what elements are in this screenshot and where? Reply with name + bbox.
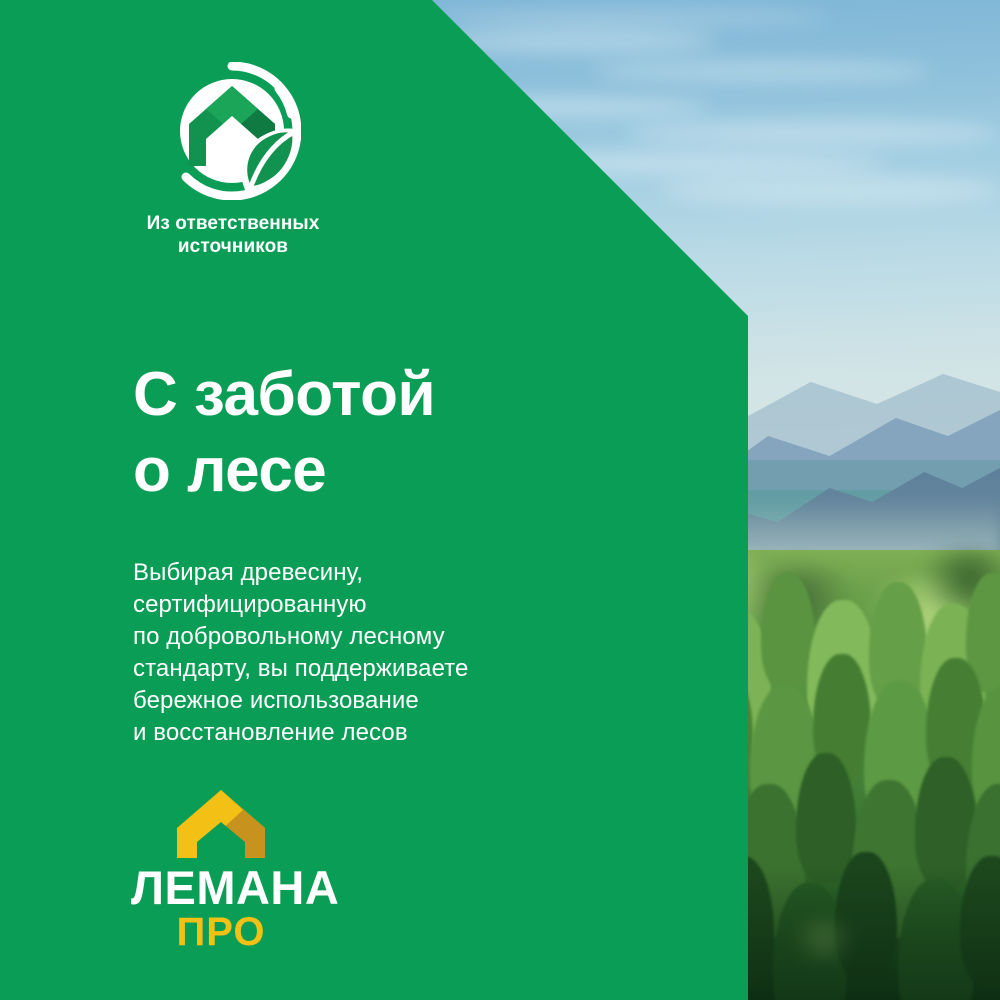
body-line-2: сертифицированную [133,589,469,621]
cloud-wisp [591,60,932,82]
page-title: С заботой о лесе [133,364,435,502]
body-line-3: по добровольному лесному [133,621,469,653]
poster: Из ответственных источников С заботой о … [0,0,1000,1000]
house-leaf-circle-icon [163,62,301,200]
cloud-wisp [659,175,1000,205]
eco-caption-line-1: Из ответственных [120,212,346,235]
brand-name: ЛЕМАНА [131,864,311,911]
headline-line-1: С заботой [133,364,435,426]
headline-line-2: о лесе [133,440,435,502]
body-line-5: бережное использование [133,685,469,717]
body-line-4: стандарту, вы поддерживаете [133,653,469,685]
eco-caption-line-2: источников [120,235,346,258]
body-line-6: и восстановление лесов [133,717,469,749]
lemana-house-icon [175,788,267,860]
body-paragraph: Выбирая древесину, сертифицированную по … [133,557,469,748]
cloud-wisp [625,120,1000,146]
cloud-wisp [443,28,716,54]
body-line-1: Выбирая древесину, [133,557,469,589]
brand-sub: ПРО [131,912,311,952]
eco-badge-caption: Из ответственных источников [120,212,346,258]
brand-logo: ЛЕМАНА ПРО [131,788,311,952]
cloud-wisp [432,9,830,25]
